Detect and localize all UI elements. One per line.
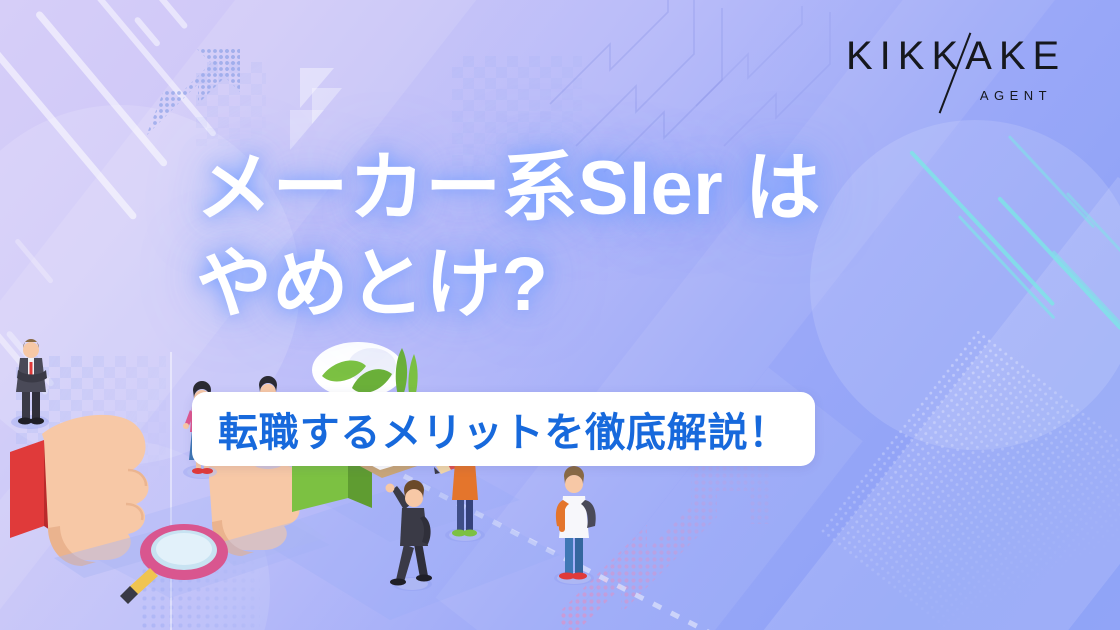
businessman-arms-crossed bbox=[14, 339, 47, 428]
subtitle-badge: 転職するメリットを徹底解説！ bbox=[192, 392, 815, 466]
illustration-svg bbox=[0, 330, 640, 630]
page-title: メーカー系SIer は やめとけ? bbox=[196, 148, 956, 326]
banner-canvas: KIKKAKE AGENT メーカー系SIer は やめとけ? 転職するメリット… bbox=[0, 0, 1120, 630]
outline-arrow-icon bbox=[690, 6, 870, 166]
headline-line-2: やめとけ? bbox=[196, 244, 956, 326]
man-backpack bbox=[556, 466, 596, 584]
chevron-triangle bbox=[290, 110, 324, 150]
isometric-illustration bbox=[0, 330, 640, 630]
subtitle-text: 転職するメリットを徹底解説！ bbox=[218, 400, 789, 458]
diagonal-stripe bbox=[145, 0, 188, 30]
kikkake-logo[interactable]: KIKKAKE AGENT bbox=[846, 36, 1086, 118]
checker-pattern bbox=[196, 62, 266, 146]
headline-line-1: メーカー系SIer は bbox=[196, 146, 821, 231]
logo-tagline: AGENT bbox=[980, 88, 1052, 103]
